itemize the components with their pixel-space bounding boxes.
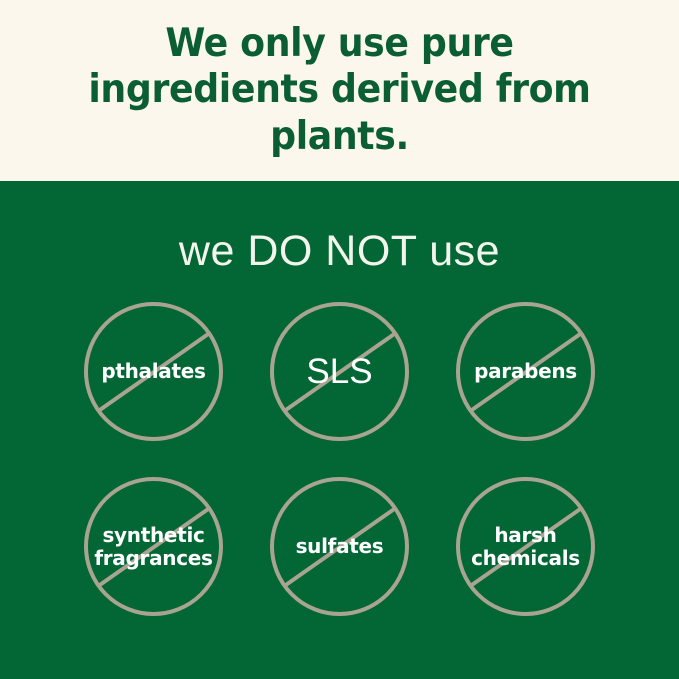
badge-label: SLS bbox=[270, 302, 409, 441]
badge-sulfates: sulfates bbox=[270, 477, 409, 616]
badge-harsh-chemicals: harsh chemicals bbox=[456, 477, 595, 616]
badge-parabens: parabens bbox=[456, 302, 595, 441]
panel-title: we DO NOT use bbox=[179, 181, 500, 276]
excluded-ingredients-grid: pthalates SLS parabens synthetic fragran… bbox=[61, 302, 619, 652]
badge-label: pthalates bbox=[84, 302, 223, 441]
badge-label: harsh chemicals bbox=[456, 477, 595, 616]
badge-sls: SLS bbox=[270, 302, 409, 441]
badge-synthetic-fragrances: synthetic fragrances bbox=[84, 477, 223, 616]
badge-label: sulfates bbox=[270, 477, 409, 616]
badge-pthalates: pthalates bbox=[84, 302, 223, 441]
badge-label: synthetic fragrances bbox=[84, 477, 223, 616]
promo-graphic: We only use pure ingredients derived fro… bbox=[0, 0, 679, 679]
do-not-use-panel: we DO NOT use pthalates SLS parabens bbox=[0, 181, 679, 679]
page-title: We only use pure ingredients derived fro… bbox=[44, 21, 635, 159]
header-band: We only use pure ingredients derived fro… bbox=[0, 0, 679, 181]
badge-label: parabens bbox=[456, 302, 595, 441]
